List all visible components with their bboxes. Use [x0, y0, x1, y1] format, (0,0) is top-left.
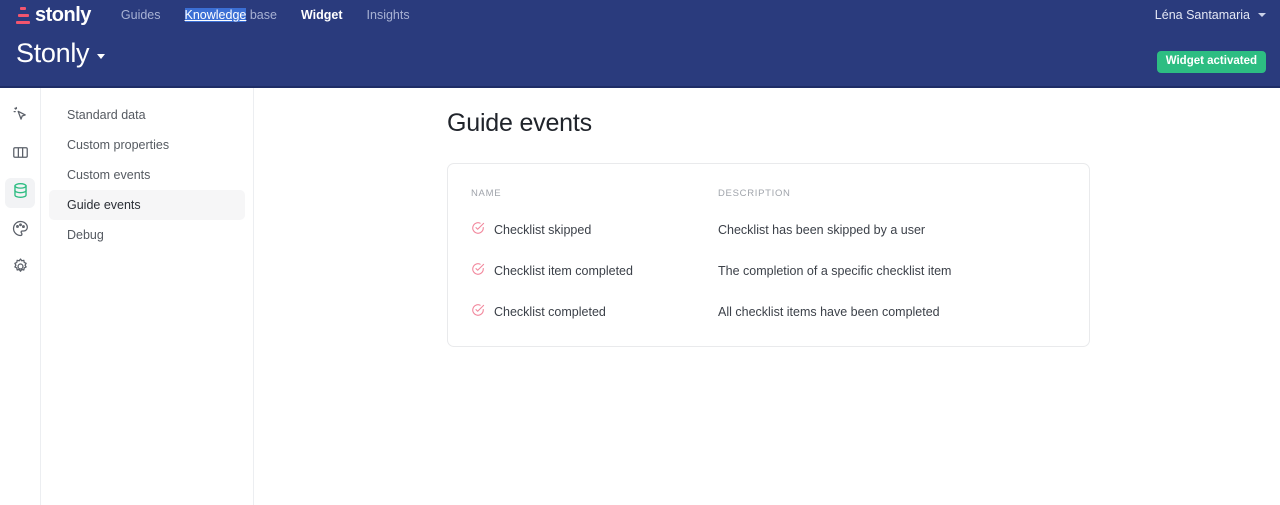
page-title: Guide events — [447, 109, 592, 138]
sidebar-nav: Standard data Custom properties Custom e… — [41, 88, 254, 505]
primary-nav: stonly Guides Knowledge base Widget Insi… — [0, 0, 1280, 30]
gear-icon — [11, 257, 30, 281]
event-name-label: Checklist completed — [494, 305, 606, 319]
cell-name: Checklist item completed — [448, 250, 718, 291]
nav-link-widget[interactable]: Widget — [301, 8, 343, 22]
table-row[interactable]: Checklist completed All checklist items … — [448, 291, 1089, 346]
guide-events-table: NAME DESCRIPTION — [448, 164, 1089, 346]
cell-name: Checklist skipped — [448, 209, 718, 250]
sidebar-item-custom-properties[interactable]: Custom properties — [49, 130, 245, 160]
nav-link-knowledge-base[interactable]: Knowledge base — [185, 8, 277, 22]
guide-events-card: NAME DESCRIPTION — [447, 163, 1090, 347]
rail-item-settings[interactable] — [5, 254, 35, 284]
cell-description: All checklist items have been completed — [718, 291, 1089, 346]
sidebar-item-debug[interactable]: Debug — [49, 220, 245, 250]
sidebar-item-custom-events[interactable]: Custom events — [49, 160, 245, 190]
table-header-row: NAME DESCRIPTION — [448, 164, 1089, 209]
nav-link-knowledge-rest-text: base — [246, 8, 277, 22]
table-row[interactable]: Checklist item completed The completion … — [448, 250, 1089, 291]
check-circle-icon — [471, 303, 485, 320]
nav-links: Guides Knowledge base Widget Insights — [121, 8, 410, 22]
cell-name: Checklist completed — [448, 291, 718, 346]
rail-item-data[interactable] — [5, 178, 35, 208]
cell-description: The completion of a specific checklist i… — [718, 250, 1089, 291]
user-menu[interactable]: Léna Santamaria — [1155, 0, 1266, 30]
nav-link-guides[interactable]: Guides — [121, 8, 161, 22]
top-header-bar: stonly Guides Knowledge base Widget Insi… — [0, 0, 1280, 88]
chevron-down-icon — [1258, 13, 1266, 17]
main-content: Guide events NAME DESCRIPTION — [255, 88, 1280, 505]
database-icon — [11, 181, 30, 205]
rail-item-cursor-click[interactable] — [5, 102, 35, 132]
cell-description: Checklist has been skipped by a user — [718, 209, 1089, 250]
status-badge: Widget activated — [1157, 51, 1266, 73]
brand-name: stonly — [35, 5, 91, 25]
event-name-label: Checklist skipped — [494, 223, 591, 237]
nav-link-knowledge-selected-text: Knowledge — [185, 8, 247, 22]
stonly-logo-icon — [16, 7, 30, 24]
icon-rail — [0, 88, 41, 505]
app-title-dropdown[interactable]: Stonly — [16, 40, 105, 67]
nav-link-insights[interactable]: Insights — [367, 8, 410, 22]
palette-icon — [11, 219, 30, 243]
sidebar-item-standard-data[interactable]: Standard data — [49, 100, 245, 130]
rail-item-layout[interactable] — [5, 140, 35, 170]
columns-layout-icon — [11, 143, 30, 167]
table-head: NAME DESCRIPTION — [448, 164, 1089, 209]
page-app-title: Stonly — [16, 40, 89, 67]
check-circle-icon — [471, 262, 485, 279]
event-name-label: Checklist item completed — [494, 264, 633, 278]
cursor-click-icon — [11, 105, 30, 129]
table-body: Checklist skipped Checklist has been ski… — [448, 209, 1089, 346]
sidebar-item-guide-events[interactable]: Guide events — [49, 190, 245, 220]
column-header-description: DESCRIPTION — [718, 164, 1089, 209]
column-header-name: NAME — [448, 164, 718, 209]
caret-down-icon — [97, 54, 105, 59]
user-name-label: Léna Santamaria — [1155, 8, 1250, 22]
check-circle-icon — [471, 221, 485, 238]
table-row[interactable]: Checklist skipped Checklist has been ski… — [448, 209, 1089, 250]
brand-logo[interactable]: stonly — [16, 0, 91, 30]
rail-item-appearance[interactable] — [5, 216, 35, 246]
